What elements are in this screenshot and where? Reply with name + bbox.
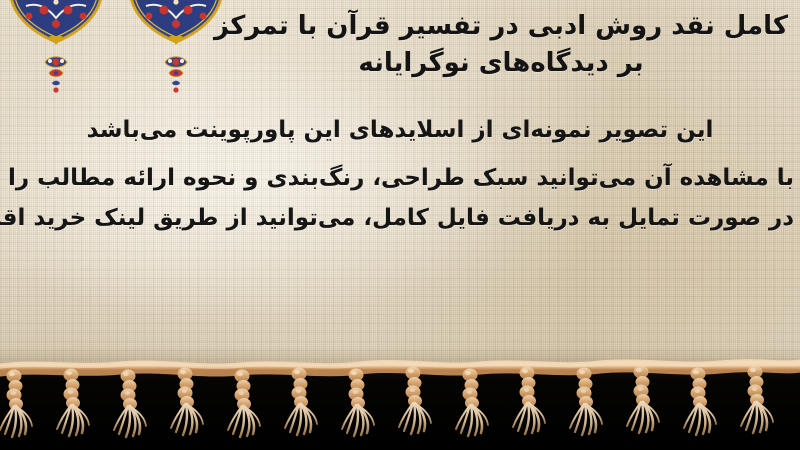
body-line-2: با مشاهده آن می‌توانید سبک طراحی، رنگ‌بن… bbox=[6, 158, 794, 198]
body-line-1: این تصویر نمونه‌ای از اسلایدهای این پاور… bbox=[6, 110, 794, 150]
slide-body: این تصویر نمونه‌ای از اسلایدهای این پاور… bbox=[6, 110, 794, 238]
slide-title: کامل نقد روش ادبی در تفسیر قرآن با تمرکز… bbox=[210, 8, 792, 82]
carpet-fringe bbox=[0, 350, 800, 450]
slide-canvas: کامل نقد روش ادبی در تفسیر قرآن با تمرکز… bbox=[0, 0, 800, 450]
body-line-3: در صورت تمایل به دریافت فایل کامل، می‌تو… bbox=[6, 198, 794, 238]
